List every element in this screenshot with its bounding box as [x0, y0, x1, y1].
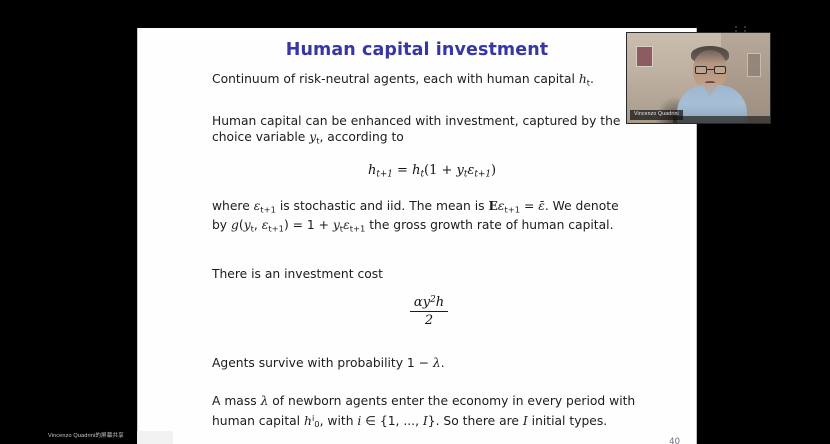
p2-line2-b: , according to — [319, 130, 403, 144]
p3-expectation-operator: E — [489, 198, 498, 213]
p6-h: h — [304, 413, 312, 427]
grip-dot — [735, 30, 737, 32]
p5-text-a: Agents survive with probability 1 − — [212, 356, 433, 370]
slide-title: Human capital investment — [154, 40, 680, 60]
p6-line1-a: A mass — [212, 394, 261, 408]
p6-line2-c: }. So there are — [428, 413, 523, 427]
video-desk — [673, 116, 770, 123]
glasses-bridge — [707, 69, 714, 70]
screen-share-window: Human capital investment Continuum of ri… — [0, 0, 830, 444]
slide-paragraph-6: A mass λ of newborn agents enter the eco… — [212, 393, 670, 432]
eq1-open: (1 + — [424, 163, 457, 178]
p3-where: where — [212, 199, 254, 213]
slide-content: Human capital investment Continuum of ri… — [138, 40, 696, 444]
picture-frame-icon — [747, 53, 761, 77]
slide-paragraph-2: Human capital can be enhanced with inves… — [212, 113, 670, 149]
screen-share-status: Vincenzo Quadrini的屏幕共享 — [48, 431, 124, 439]
p3-epsilon-4: ε — [343, 218, 350, 232]
share-status-suffix: 的屏幕共享 — [95, 433, 123, 439]
slide-paragraph-1: Continuum of risk-neutral agents, each w… — [212, 71, 670, 91]
picture-frame-icon — [636, 46, 653, 67]
p3-line1-c: . We denote — [545, 199, 619, 213]
p5-lambda: λ — [433, 356, 441, 370]
participant-name-label: Vincenzo Quadrini — [630, 110, 683, 120]
p3-line2-by: by — [212, 218, 231, 232]
eq1-lhs-sub: t+1 — [376, 170, 393, 180]
p3-eps-sub-4: t+1 — [350, 224, 366, 234]
fraction: αy2h 2 — [410, 295, 448, 329]
cost-h: h — [436, 295, 444, 310]
p1-period: . — [590, 72, 594, 86]
grip-dot — [735, 26, 737, 28]
p1-text: Continuum of risk-neutral agents, each w… — [212, 72, 579, 86]
p3-y: y — [244, 218, 251, 232]
p6-line2-d: initial types. — [528, 413, 607, 427]
slide-paragraph-4: There is an investment cost — [212, 266, 670, 283]
p6-line2-a: human capital — [212, 413, 304, 427]
share-status-name: Vincenzo Quadrini — [48, 433, 95, 439]
p3-eps-sub: t+1 — [260, 204, 276, 214]
cost-alpha: α — [414, 295, 423, 310]
eq1-close: ) — [491, 163, 496, 178]
p3-y-2: y — [333, 218, 340, 232]
glasses-lens-right — [714, 66, 726, 74]
slide-paragraph-5: Agents survive with probability 1 − λ. — [212, 355, 670, 372]
p3-line2-d: the gross growth rate of human capital. — [365, 218, 613, 232]
p1-variable-h: h — [579, 72, 587, 86]
shared-slide[interactable]: Human capital investment Continuum of ri… — [137, 28, 697, 444]
eq1-rhs-y: y — [457, 163, 464, 178]
cost-y: y — [423, 295, 430, 310]
p6-line2-b: , with — [320, 413, 358, 427]
p3-g-function: g — [231, 218, 239, 232]
p3-line1-b: is stochastic and iid. The mean is — [276, 199, 489, 213]
p2-line2-a: choice variable — [212, 130, 309, 144]
p3-eps-sub-3: t+1 — [268, 224, 284, 234]
p5-text-b: . — [441, 356, 445, 370]
p6-line1-b: of newborn agents enter the economy in e… — [268, 394, 635, 408]
p3-epsilon-bar: ε̄ — [538, 199, 545, 213]
p3-line2-c: ) = 1 + — [284, 218, 333, 232]
grip-dot — [744, 30, 746, 32]
p3-equals: = — [520, 199, 538, 213]
fraction-numerator: αy2h — [410, 295, 448, 312]
drag-grip-icon[interactable] — [735, 26, 751, 33]
eq1-equals: = — [393, 163, 412, 178]
p6-set: ∈ {1, ..., — [361, 413, 423, 427]
slide-page-number: 40 — [669, 437, 680, 444]
p3-eps-sub-2: t+1 — [504, 204, 520, 214]
equation-investment-cost: αy2h 2 — [178, 295, 680, 329]
p3-comma: , — [254, 218, 262, 232]
equation-law-of-motion: ht+1 = ht(1 + ytεt+1) — [184, 163, 680, 179]
participant-video-tile[interactable]: Vincenzo Quadrini — [627, 33, 770, 123]
eq1-rhs-eps-sub: t+1 — [474, 170, 491, 180]
p2-line1: Human capital can be enhanced with inves… — [212, 114, 620, 128]
fraction-denominator: 2 — [410, 312, 448, 328]
glasses-icon — [695, 66, 726, 74]
grip-dot — [744, 26, 746, 28]
window-chrome-sliver — [137, 431, 173, 444]
glasses-lens-left — [695, 66, 707, 74]
slide-paragraph-3: where εt+1 is stochastic and iid. The me… — [212, 198, 670, 238]
